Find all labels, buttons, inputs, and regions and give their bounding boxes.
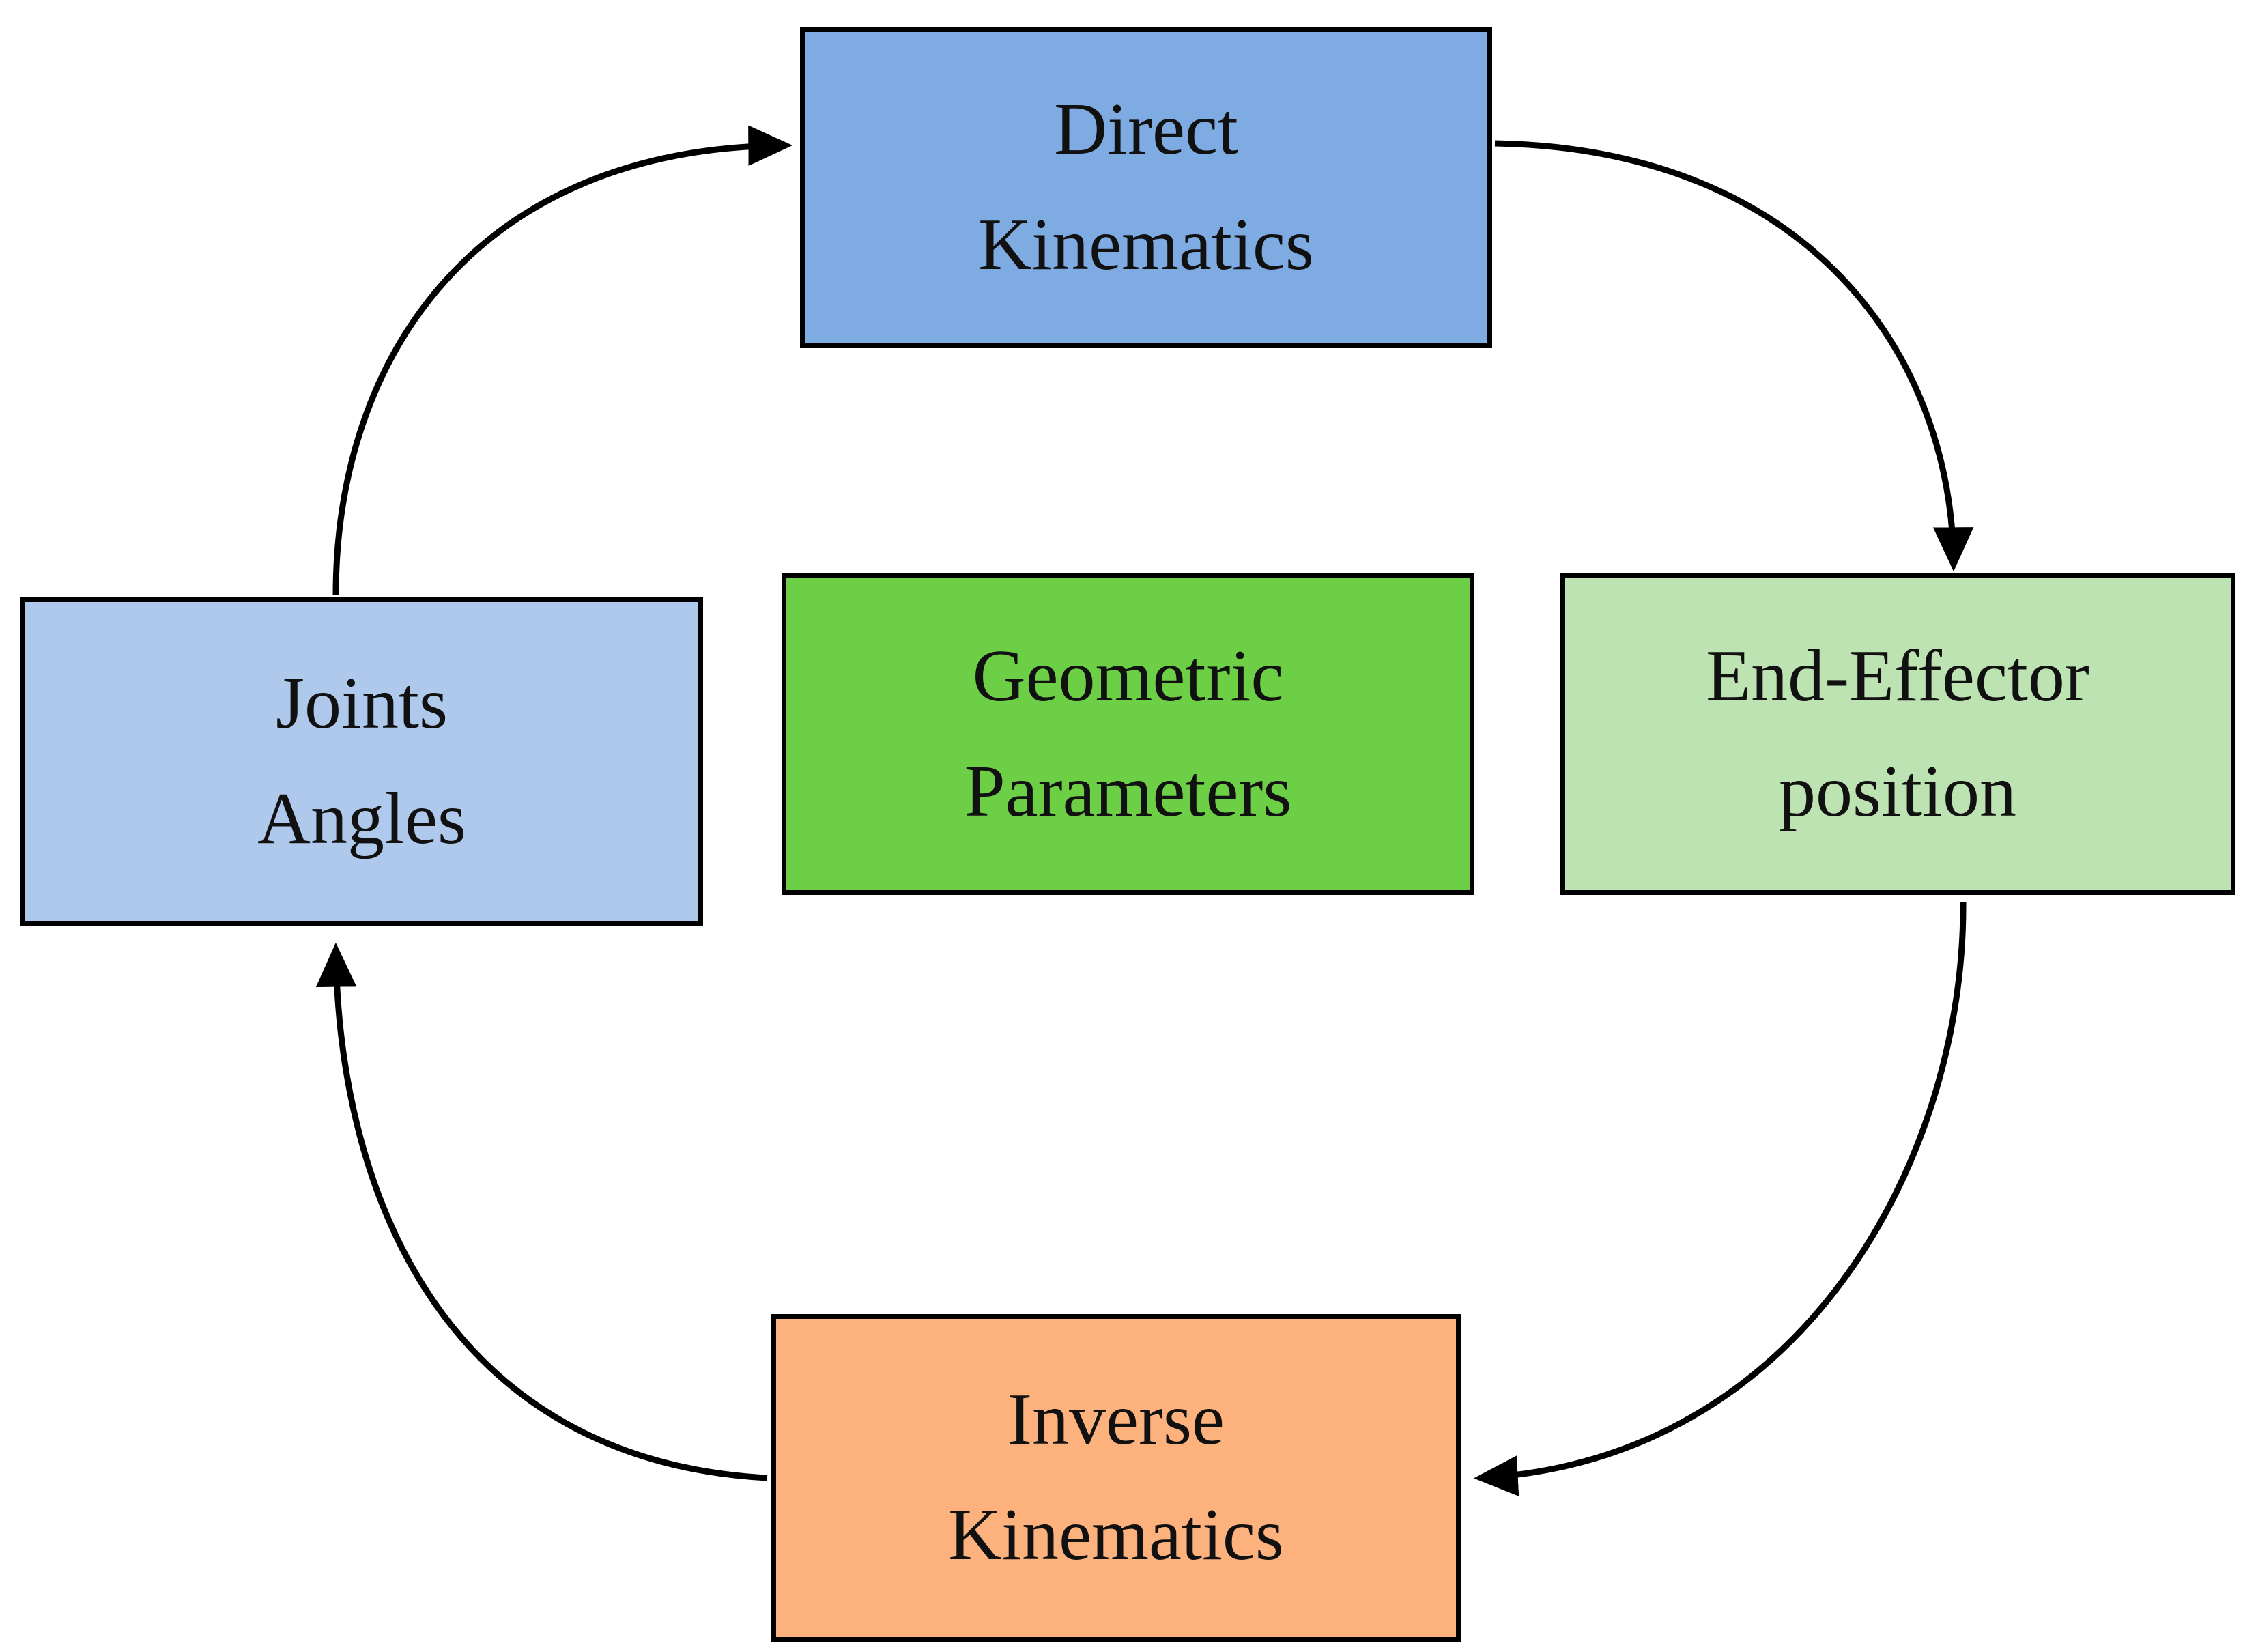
node-direct-kinematics-line-2: Kinematics [978,197,1314,294]
node-end-effector-position-line-2: position [1779,743,2016,841]
node-geometric-parameters[interactable]: Geometric Parameters [782,573,1474,895]
node-inverse-kinematics-line-2: Kinematics [948,1487,1284,1584]
node-inverse-kinematics-line-1: Inverse [1008,1371,1225,1469]
node-end-effector-position[interactable]: End-Effector position [1560,573,2235,895]
arrow-direct-to-endeff [1495,143,1954,565]
arrow-inverse-to-joints [336,949,767,1478]
node-geometric-parameters-line-2: Parameters [965,743,1292,841]
arrow-endeff-to-inverse [1480,902,1963,1478]
node-end-effector-position-line-1: End-Effector [1706,628,2089,726]
arrow-joints-to-direct [336,145,786,595]
node-direct-kinematics-line-1: Direct [1054,81,1238,179]
node-joints-angles-line-1: Joints [276,655,448,753]
node-joints-angles[interactable]: Joints Angles [20,597,703,926]
node-inverse-kinematics[interactable]: Inverse Kinematics [771,1314,1461,1642]
node-joints-angles-line-2: Angles [257,771,466,868]
node-direct-kinematics[interactable]: Direct Kinematics [800,27,1492,348]
kinematics-cycle-diagram: Direct Kinematics Joints Angles Geometri… [0,0,2243,1652]
node-geometric-parameters-line-1: Geometric [973,628,1284,726]
